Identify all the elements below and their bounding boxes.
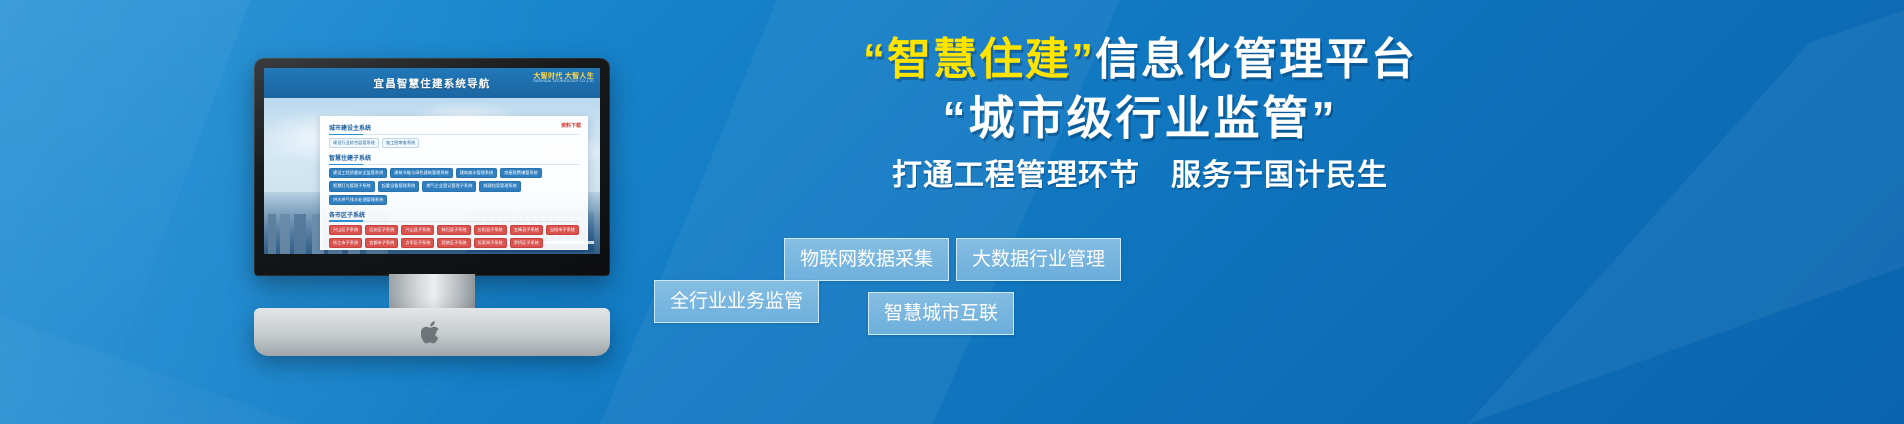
system-chip[interactable]: 供水供气排水处理管理系统 — [329, 195, 387, 205]
monitor-screen: 宜昌智慧住建系统导航 大智时代 大智人生 DASHIDAI TECHNOLOGY… — [264, 68, 600, 254]
system-chip[interactable]: 建设工程质量安全监管系统 — [329, 168, 387, 178]
system-chip[interactable]: 智慧灯光管理子系统 — [329, 181, 375, 191]
system-chip[interactable]: 秭归县子系统 — [437, 225, 470, 235]
chip-group-main-system: 建设行业综合监管系统 施工图审查系统 — [329, 138, 579, 148]
system-chip[interactable]: 长阳县子系统 — [474, 225, 507, 235]
screen-header-title: 宜昌智慧住建系统导航 — [374, 76, 491, 91]
imac-mockup: 宜昌智慧住建系统导航 大智时代 大智人生 DASHIDAI TECHNOLOGY… — [254, 58, 610, 306]
system-chip[interactable]: 施工图审查系统 — [382, 138, 419, 148]
system-chip[interactable]: 枝江市子系统 — [329, 238, 362, 248]
system-chip[interactable]: 燃气企业登记管理子系统 — [422, 181, 476, 191]
system-chip[interactable]: 房屋税费辅管系统 — [500, 168, 542, 178]
system-chip[interactable]: 点军区子系统 — [401, 238, 434, 248]
monitor-bezel: 宜昌智慧住建系统导航 大智时代 大智人生 DASHIDAI TECHNOLOGY… — [254, 58, 610, 276]
section-title-main-system: 城市建设主系统 — [329, 123, 579, 135]
headline-line-1: “智慧住建”信息化管理平台 — [640, 36, 1640, 84]
system-chip[interactable]: 远安区子系统 — [365, 225, 398, 235]
system-chip[interactable]: 宜都市子系统 — [365, 238, 398, 248]
headline-line-2: “城市级行业监管” — [640, 92, 1640, 145]
section-title-district-systems: 各市区子系统 — [329, 210, 579, 222]
chip-group-district-systems: 兴山区子系统 远安区子系统 兴山县子系统 秭归县子系统 长阳县子系统 五峰县子系… — [329, 225, 579, 248]
headline-line-3: 打通工程管理环节 服务于国计民生 — [640, 158, 1640, 194]
section-title-smart-sub-systems: 智慧住建子系统 — [329, 153, 579, 165]
monitor-stand-neck — [389, 274, 475, 310]
system-chip[interactable]: 西陵区子系统 — [437, 238, 470, 248]
chip-group-smart-sub-systems: 建设工程质量安全监管系统 建筑节能与绿色建筑管理系统 建筑废水管理系统 房屋税费… — [329, 168, 579, 205]
feature-tag-iot-data-collection[interactable]: 物联网数据采集 — [784, 238, 949, 281]
screen-header-bar: 宜昌智慧住建系统导航 大智时代 大智人生 DASHIDAI TECHNOLOGY… — [264, 68, 600, 98]
system-chip[interactable]: 起重设备管理系统 — [378, 181, 420, 191]
system-chip[interactable]: 建设行业综合监管系统 — [329, 138, 379, 148]
system-chip[interactable]: 兴山区子系统 — [329, 225, 362, 235]
system-chip[interactable]: 建筑节能与绿色建筑管理系统 — [390, 168, 452, 178]
screen-brand-en: DASHIDAI TECHNOLOGY CO.,LTD — [533, 80, 594, 84]
feature-tag-smart-city-interconnect[interactable]: 智慧城市互联 — [868, 292, 1014, 335]
system-chip[interactable]: 当阳市子系统 — [546, 225, 579, 235]
screen-body: 资料下载 城市建设主系统 建设行业综合监管系统 施工图审查系统 智慧住建子系统 … — [264, 98, 600, 254]
background-wedge-far-left — [0, 0, 250, 424]
promo-banner: 宜昌智慧住建系统导航 大智时代 大智人生 DASHIDAI TECHNOLOGY… — [0, 0, 1904, 424]
system-chip[interactable]: 五峰县子系统 — [510, 225, 543, 235]
headline-block: “智慧住建”信息化管理平台 “城市级行业监管” 打通工程管理环节 服务于国计民生 — [640, 36, 1640, 194]
screen-brand-logo: 大智时代 大智人生 DASHIDAI TECHNOLOGY CO.,LTD — [533, 73, 594, 84]
system-chip[interactable]: 伍家岗子系统 — [474, 238, 507, 248]
system-chip[interactable]: 城建档案管理系统 — [479, 181, 521, 191]
feature-tag-bigdata-industry-management[interactable]: 大数据行业管理 — [956, 238, 1121, 281]
system-chip[interactable]: 罗桥区子系统 — [510, 238, 543, 248]
system-chip[interactable]: 兴山县子系统 — [401, 225, 434, 235]
headline-highlight: “智慧住建” — [863, 35, 1095, 84]
headline-line-1-rest: 信息化管理平台 — [1095, 35, 1417, 84]
feature-tag-all-industry-supervision[interactable]: 全行业业务监管 — [654, 280, 819, 323]
apple-logo-icon — [421, 320, 443, 351]
navigation-panel: 资料下载 城市建设主系统 建设行业综合监管系统 施工图审查系统 智慧住建子系统 … — [320, 116, 588, 250]
system-chip[interactable]: 建筑废水管理系统 — [456, 168, 498, 178]
